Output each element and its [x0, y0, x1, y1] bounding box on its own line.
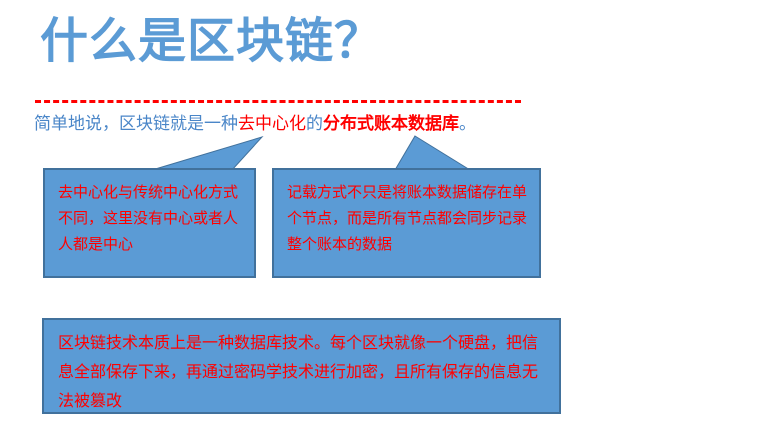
- subtitle-segment-3: 的: [306, 114, 323, 133]
- callout-box-decentralization-text: 去中心化与传统中心化方式不同，这里没有中心或者人人都是中心: [45, 170, 254, 268]
- callout-box-distributed-ledger[interactable]: 记载方式不只是将账本数据储存在单个节点，而是所有节点都会同步记录整个账本的数据: [272, 168, 541, 278]
- callout-box-decentralization[interactable]: 去中心化与传统中心化方式不同，这里没有中心或者人人都是中心: [43, 168, 256, 278]
- subtitle-line: 简单地说，区块链就是一种去中心化的分布式账本数据库。: [34, 112, 476, 136]
- subtitle-segment-5: 。: [459, 114, 476, 133]
- callout-box-distributed-ledger-text: 记载方式不只是将账本数据储存在单个节点，而是所有节点都会同步记录整个账本的数据: [274, 170, 539, 268]
- subtitle-segment-1: 简单地说，区块链就是一种: [34, 114, 238, 133]
- callout-2-pointer-tail: [395, 136, 470, 170]
- slide-canvas: 什么是区块链？ 简单地说，区块链就是一种去中心化的分布式账本数据库。 去中心化与…: [0, 0, 769, 439]
- page-title: 什么是区块链？: [40, 14, 383, 71]
- callout-1-pointer-tail: [152, 137, 262, 170]
- summary-box-text: 区块链技术本质上是一种数据库技术。每个区块就像一个硬盘，把信息全部保存下来，再通…: [44, 320, 559, 416]
- dashed-divider: [35, 100, 521, 103]
- subtitle-segment-4-highlight: 分布式账本数据库: [323, 114, 459, 133]
- subtitle-segment-2-highlight: 去中心化: [238, 114, 306, 133]
- summary-box[interactable]: 区块链技术本质上是一种数据库技术。每个区块就像一个硬盘，把信息全部保存下来，再通…: [42, 318, 561, 414]
